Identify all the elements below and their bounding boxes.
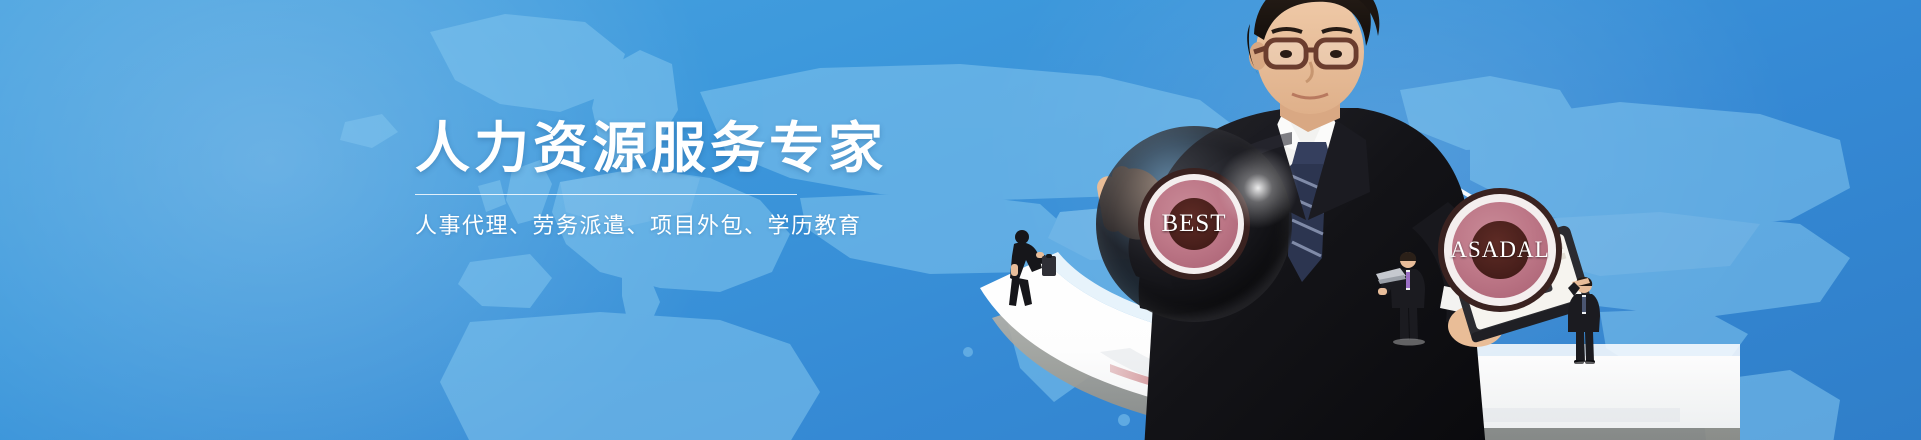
hero-banner: 人力资源服务专家 人事代理、劳务派遣、项目外包、学历教育 xyxy=(0,0,1921,440)
briefcase-figure-icon xyxy=(998,228,1060,316)
badge-best: BEST xyxy=(1138,168,1250,280)
badge-asadal: ASADAL xyxy=(1438,188,1562,312)
laptop-figure-icon xyxy=(1380,248,1436,346)
title-divider xyxy=(415,194,797,195)
lookout-figure-icon xyxy=(1558,272,1610,368)
banner-text-block: 人力资源服务专家 人事代理、劳务派遣、项目外包、学历教育 xyxy=(415,118,835,240)
page-subtitle: 人事代理、劳务派遣、项目外包、学历教育 xyxy=(415,208,835,240)
page-title: 人力资源服务专家 xyxy=(415,118,835,180)
badge-asadal-label: ASADAL xyxy=(1450,237,1549,263)
badge-best-label: BEST xyxy=(1161,210,1226,238)
